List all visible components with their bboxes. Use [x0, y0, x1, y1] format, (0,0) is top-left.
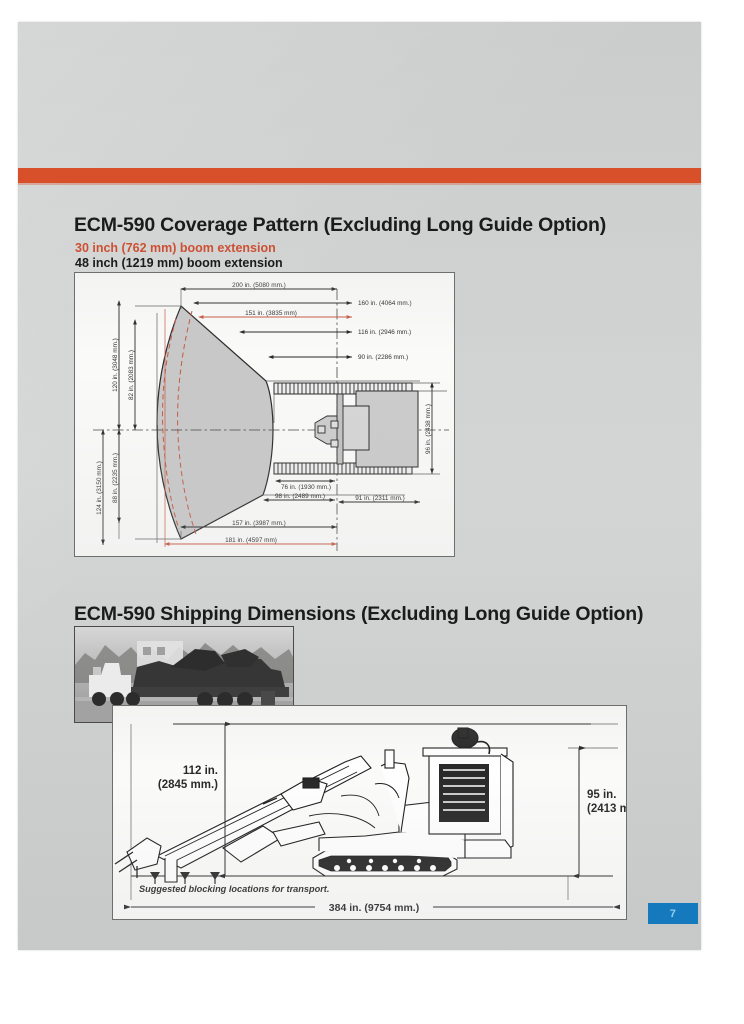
- shipping-dim-384in: 384 in. (9754 mm.): [329, 902, 419, 914]
- shipping-dimensions-diagram: 112 in. (2845 mm.) 95 in. (2413 mm.) Sug…: [112, 705, 627, 920]
- coverage-dim-88in: 88 in. (2235 mm.): [112, 453, 119, 503]
- coverage-dim-76in: 76 in. (1930 mm.): [281, 484, 331, 491]
- coverage-dim-96in: 96 in. (2438 mm.): [425, 404, 432, 454]
- blocking-note: Suggested blocking locations for transpo…: [139, 884, 329, 894]
- coverage-dim-90in: 90 in. (2286 mm.): [358, 354, 408, 361]
- coverage-dim-181in: 181 in. (4597 mm): [225, 537, 277, 544]
- coverage-dim-157in: 157 in. (3987 mm.): [232, 520, 286, 527]
- shipping-dim-112in-line1: 112 in.: [183, 765, 218, 777]
- document-page: ECM-590 Coverage Pattern (Excluding Long…: [0, 0, 744, 1024]
- coverage-dim-160in: 160 in. (4064 mm.): [358, 300, 412, 307]
- shipping-dim-95in-line1: 95 in.: [587, 789, 616, 801]
- shipping-dim-112in-line2: (2845 mm.): [158, 779, 218, 791]
- coverage-dim-98in: 98 in. (2489 mm.): [275, 493, 325, 500]
- blocking-location-markers: [150, 872, 220, 884]
- coverage-dim-120in: 120 in. (3048 mm.): [112, 338, 119, 392]
- coverage-dim-151in: 151 in. (3835 mm): [245, 310, 297, 317]
- boom-extension-48-inch-label: 48 inch (1219 mm) boom extension: [75, 256, 283, 270]
- page-number-badge: 7: [648, 903, 698, 924]
- boom-extension-30-inch-label: 30 inch (762 mm) boom extension: [75, 241, 276, 255]
- coverage-dim-124in: 124 in. (3150 mm.): [96, 461, 103, 515]
- coverage-pattern-drawing: 200 in. (5080 mm.) 160 in. (4064 mm.) 15…: [75, 273, 454, 556]
- coverage-dim-91in: 91 in. (2311 mm.): [355, 495, 405, 502]
- shipping-dimensions-title: ECM-590 Shipping Dimensions (Excluding L…: [74, 603, 643, 626]
- shipping-dimensions-drawing: 112 in. (2845 mm.) 95 in. (2413 mm.) Sug…: [113, 706, 626, 919]
- drill-rig-side-view: [115, 728, 513, 882]
- coverage-pattern-diagram: 200 in. (5080 mm.) 160 in. (4064 mm.) 15…: [74, 272, 455, 557]
- coverage-dim-116in: 116 in. (2946 mm.): [358, 329, 411, 336]
- coverage-dim-82in: 82 in. (2083 mm.): [128, 350, 135, 400]
- shipping-dim-95in-line2: (2413 mm.): [587, 803, 626, 815]
- coverage-dim-200in: 200 in. (5080 mm.): [232, 282, 286, 289]
- coverage-pattern-title: ECM-590 Coverage Pattern (Excluding Long…: [74, 214, 606, 237]
- scanned-sheet: ECM-590 Coverage Pattern (Excluding Long…: [18, 22, 701, 950]
- orange-accent-bar: [18, 168, 701, 183]
